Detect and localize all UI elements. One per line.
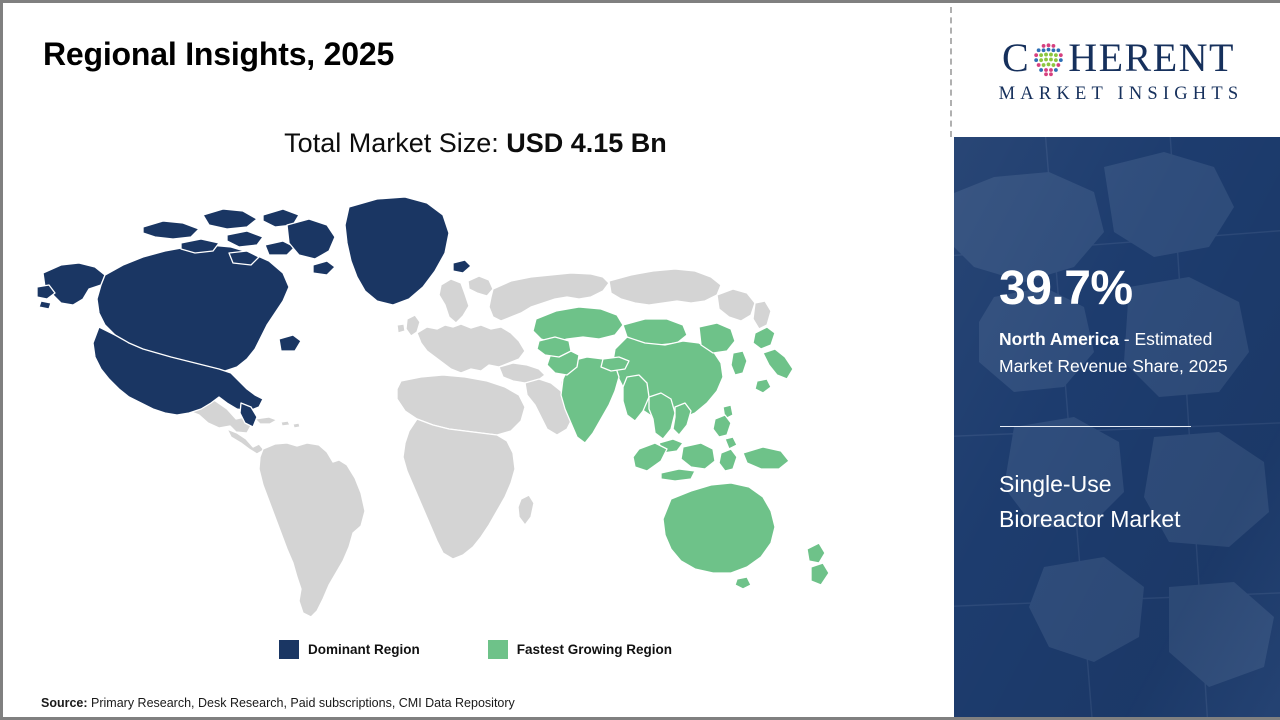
left-content-panel: Regional Insights, 2025 Total Market Siz… [3, 3, 948, 720]
stat-region-name: North America [999, 329, 1119, 349]
brand-logo: C [954, 3, 1280, 137]
logo-word-coherent: HERENT [1068, 38, 1235, 78]
legend-item-fastest-growing: Fastest Growing Region [488, 640, 672, 659]
logo-subtitle: MARKET INSIGHTS [994, 84, 1244, 105]
stat-panel: 39.7% North America - Estimated Market R… [954, 137, 1280, 720]
legend-swatch-fastest-icon [488, 640, 508, 659]
map-region-asia-pacific [533, 307, 829, 589]
stat-divider-rule [1000, 426, 1191, 427]
legend-label-dominant: Dominant Region [308, 642, 420, 657]
logo-letter-c: C [1002, 38, 1030, 78]
source-note: Source: Primary Research, Desk Research,… [41, 696, 515, 710]
source-label: Source: [41, 696, 88, 710]
legend-label-fastest-growing: Fastest Growing Region [517, 642, 672, 657]
map-legend: Dominant Region Fastest Growing Region [3, 640, 948, 659]
total-market-size-value: USD 4.15 Bn [506, 128, 667, 158]
source-text: Primary Research, Desk Research, Paid su… [88, 696, 515, 710]
world-map-svg [31, 181, 861, 621]
globe-dots-icon [1030, 41, 1067, 78]
total-market-size: Total Market Size: USD 4.15 Bn [3, 128, 948, 159]
world-map [31, 181, 861, 621]
page-title: Regional Insights, 2025 [43, 36, 394, 73]
stat-percentage: 39.7% [999, 265, 1133, 313]
logo-wordmark: C [1002, 35, 1235, 81]
vertical-dashed-divider [950, 7, 952, 137]
legend-swatch-dominant-icon [279, 640, 299, 659]
total-market-size-label: Total Market Size: [284, 128, 506, 158]
market-name: Single-Use Bioreactor Market [999, 467, 1189, 537]
stat-description: North America - Estimated Market Revenue… [999, 326, 1264, 379]
regional-insights-slide: Regional Insights, 2025 Total Market Siz… [0, 0, 1280, 720]
stat-content: 39.7% North America - Estimated Market R… [999, 137, 1261, 720]
legend-item-dominant: Dominant Region [279, 640, 420, 659]
right-sidebar: C [954, 3, 1280, 720]
